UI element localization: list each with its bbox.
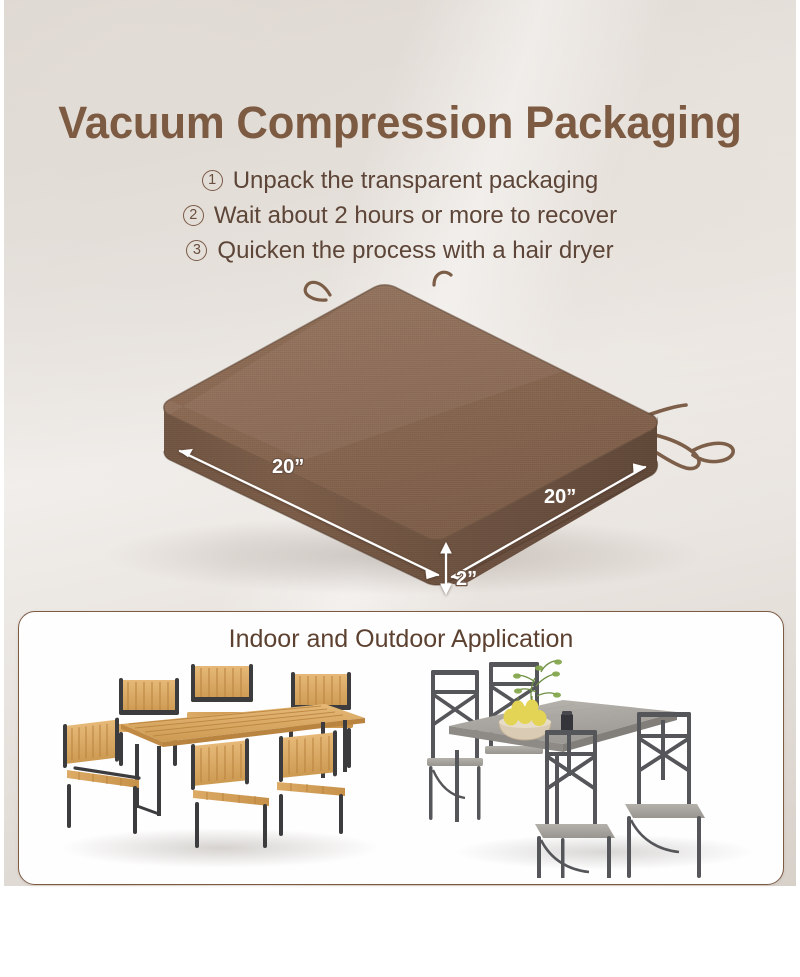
step-number-badge: 3: [186, 240, 207, 261]
cushion-svg: 20” 20” 2”: [4, 255, 796, 605]
application-panel-title: Indoor and Outdoor Application: [19, 625, 783, 654]
step-text: Quicken the process with a hair dryer: [217, 237, 613, 265]
cushion-illustration: 20” 20” 2”: [4, 255, 796, 605]
indoor-dining-set-svg: [415, 652, 781, 878]
step-number-badge: 2: [183, 205, 204, 226]
indoor-dining-set-image: [415, 652, 781, 878]
step-text: Wait about 2 hours or more to recover: [214, 202, 617, 230]
outdoor-dining-set-image: [25, 652, 415, 878]
instruction-step: 2 Wait about 2 hours or more to recover: [4, 198, 796, 233]
instruction-steps: 1 Unpack the transparent packaging 2 Wai…: [4, 163, 796, 268]
instruction-step: 1 Unpack the transparent packaging: [4, 163, 796, 198]
application-panel: Indoor and Outdoor Application: [18, 611, 784, 885]
dimension-label-thickness: 2”: [456, 568, 477, 590]
product-infographic: Vacuum Compression Packaging 1 Unpack th…: [0, 0, 800, 977]
instruction-step: 3 Quicken the process with a hair dryer: [4, 233, 796, 268]
step-text: Unpack the transparent packaging: [233, 167, 599, 195]
dimension-label-width: 20”: [272, 456, 304, 478]
outdoor-dining-set-svg: [25, 652, 415, 878]
dimension-label-depth: 20”: [544, 486, 576, 508]
page-title: Vacuum Compression Packaging: [16, 98, 784, 148]
step-number-badge: 1: [202, 170, 223, 191]
